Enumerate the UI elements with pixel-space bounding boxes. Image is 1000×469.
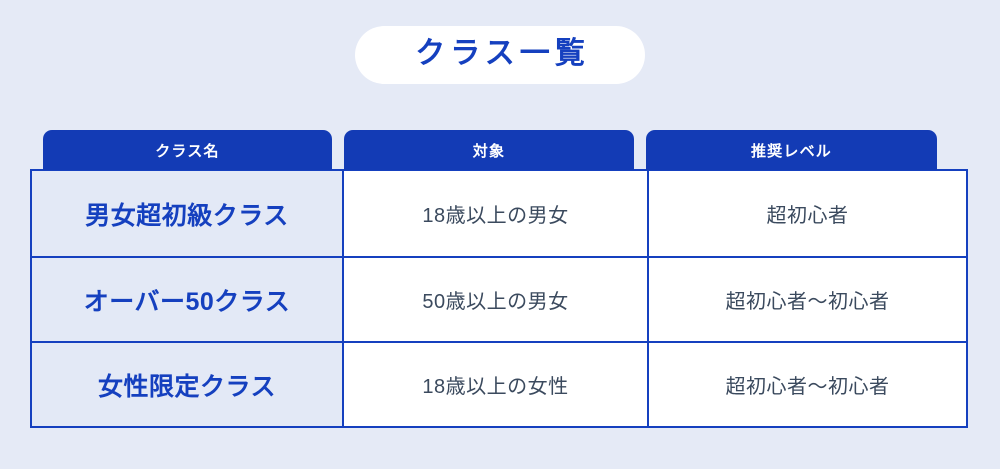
cell-level: 超初心者: [649, 171, 966, 256]
table-header-target: 対象: [344, 130, 634, 170]
table-header-class-name: クラス名: [43, 130, 332, 170]
target-text: 18歳以上の女性: [422, 370, 568, 399]
table-row: オーバー50クラス 50歳以上の男女 超初心者〜初心者: [32, 256, 966, 341]
page-title-container: クラス一覧: [0, 26, 1000, 84]
table-row: 男女超初級クラス 18歳以上の男女 超初心者: [32, 171, 966, 256]
target-text: 50歳以上の男女: [422, 285, 568, 314]
table-header-row: クラス名 対象 推奨レベル: [30, 130, 968, 170]
cell-class-name: 女性限定クラス: [32, 343, 344, 426]
table-header-level: 推奨レベル: [646, 130, 937, 170]
target-text: 18歳以上の男女: [422, 199, 568, 228]
page-title: クラス一覧: [407, 39, 593, 69]
table-header-level-label: 推奨レベル: [751, 140, 832, 161]
cell-target: 18歳以上の男女: [344, 171, 649, 256]
class-name-text: 男女超初級クラス: [85, 196, 289, 232]
cell-target: 50歳以上の男女: [344, 258, 649, 341]
table-header-target-label: 対象: [473, 140, 505, 161]
class-name-text: 女性限定クラス: [98, 367, 276, 403]
cell-class-name: オーバー50クラス: [32, 258, 344, 341]
page-title-pill: クラス一覧: [355, 26, 645, 84]
class-name-text: オーバー50クラス: [84, 282, 291, 318]
cell-level: 超初心者〜初心者: [649, 343, 966, 426]
level-text: 超初心者: [767, 199, 849, 228]
table-header-class-name-label: クラス名: [155, 140, 220, 161]
cell-class-name: 男女超初級クラス: [32, 171, 344, 256]
class-list-page: クラス一覧 クラス名 対象 推奨レベル 男女超初級クラス 18歳以上の男女: [0, 0, 1000, 469]
cell-level: 超初心者〜初心者: [649, 258, 966, 341]
level-text: 超初心者〜初心者: [726, 370, 890, 399]
table-row: 女性限定クラス 18歳以上の女性 超初心者〜初心者: [32, 341, 966, 426]
table-body: 男女超初級クラス 18歳以上の男女 超初心者 オーバー50クラス 50歳以上の男…: [30, 169, 968, 428]
level-text: 超初心者〜初心者: [726, 285, 890, 314]
class-table: クラス名 対象 推奨レベル 男女超初級クラス 18歳以上の男女 超初心者: [30, 130, 968, 428]
cell-target: 18歳以上の女性: [344, 343, 649, 426]
